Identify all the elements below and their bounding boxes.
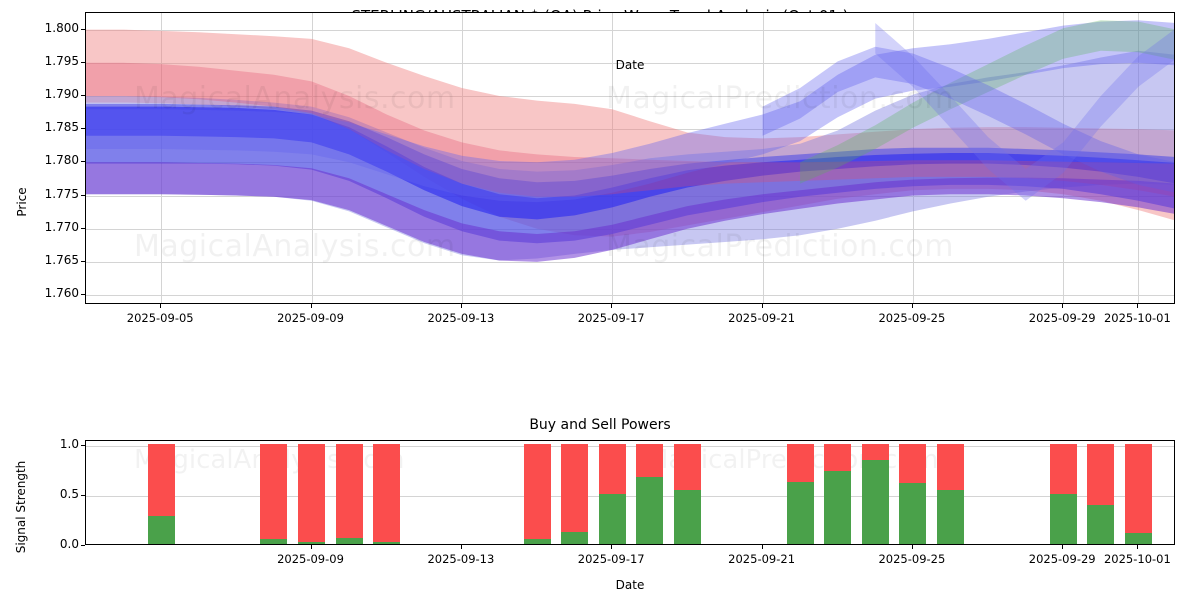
price-xtick-mark	[461, 304, 462, 308]
price-ytick-label: 1.800	[23, 21, 79, 35]
buy-power-segment	[561, 532, 588, 544]
price-xtick-label: 2025-09-21	[717, 311, 807, 325]
powers-ytick-mark	[81, 445, 85, 446]
price-xtick-label: 2025-10-01	[1092, 311, 1182, 325]
buy-power-segment	[599, 494, 626, 544]
price-xtick-mark	[1137, 304, 1138, 308]
price-ytick-mark	[81, 195, 85, 196]
buy-power-segment	[148, 516, 175, 544]
sell-power-segment	[336, 444, 363, 544]
price-xtick-label: 2025-09-17	[566, 311, 656, 325]
powers-y-axis-label: Signal Strength	[14, 452, 28, 562]
price-ytick-mark	[81, 228, 85, 229]
price-wave-bands	[86, 13, 1175, 304]
price-xtick-label: 2025-09-13	[416, 311, 506, 325]
powers-xtick-mark	[461, 545, 462, 549]
buy-power-segment	[862, 460, 889, 544]
powers-bar	[862, 444, 889, 544]
powers-chart-panel: Buy and Sell Powers Signal Strength Magi…	[0, 415, 1200, 600]
powers-bar	[298, 444, 325, 544]
sell-power-segment	[260, 444, 287, 544]
price-ytick-label: 1.775	[23, 187, 79, 201]
powers-bar	[1125, 444, 1152, 544]
buy-power-segment	[674, 490, 701, 544]
buy-power-segment	[373, 542, 400, 544]
powers-x-axis-label: Date	[85, 578, 1175, 592]
powers-xtick-mark	[311, 545, 312, 549]
price-ytick-label: 1.765	[23, 253, 79, 267]
price-ytick-mark	[81, 294, 85, 295]
buy-power-segment	[787, 482, 814, 544]
buy-power-segment	[1050, 494, 1077, 544]
price-ytick-mark	[81, 128, 85, 129]
price-xtick-mark	[311, 304, 312, 308]
powers-bar	[561, 444, 588, 544]
powers-xtick-label: 2025-09-25	[867, 552, 957, 566]
price-ytick-label: 1.780	[23, 153, 79, 167]
powers-bar	[1050, 444, 1077, 544]
powers-plot-area: MagicalAnalysis.com MagicalPrediction.co…	[85, 440, 1175, 545]
price-xtick-mark	[160, 304, 161, 308]
buy-power-segment	[899, 483, 926, 544]
price-ytick-label: 1.790	[23, 87, 79, 101]
price-xtick-mark	[611, 304, 612, 308]
chart-page: STERLING/AUSTRALIAN $ (QA) Price Wave Tr…	[0, 0, 1200, 600]
powers-bar	[787, 444, 814, 544]
price-plot-area: MagicalAnalysis.com MagicalPrediction.co…	[85, 12, 1175, 304]
buy-power-segment	[937, 490, 964, 544]
powers-bar	[674, 444, 701, 544]
buy-power-segment	[524, 539, 551, 544]
price-x-axis-label: Date	[85, 58, 1175, 72]
powers-xtick-mark	[762, 545, 763, 549]
price-xtick-label: 2025-09-05	[115, 311, 205, 325]
powers-xtick-label: 2025-09-17	[566, 552, 656, 566]
sell-power-segment	[298, 444, 325, 544]
price-ytick-mark	[81, 62, 85, 63]
price-ytick-mark	[81, 161, 85, 162]
powers-bar	[824, 444, 851, 544]
price-ytick-label: 1.770	[23, 220, 79, 234]
powers-xtick-mark	[912, 545, 913, 549]
powers-bar	[524, 444, 551, 544]
buy-power-segment	[824, 471, 851, 544]
price-ytick-label: 1.760	[23, 286, 79, 300]
powers-title: Buy and Sell Powers	[0, 415, 1200, 435]
buy-power-segment	[1087, 505, 1114, 544]
powers-bar	[1087, 444, 1114, 544]
powers-bar	[148, 444, 175, 544]
price-ytick-mark	[81, 95, 85, 96]
powers-gridline	[86, 446, 1174, 447]
price-ytick-label: 1.785	[23, 120, 79, 134]
sell-power-segment	[373, 444, 400, 544]
price-ytick-mark	[81, 29, 85, 30]
powers-xtick-mark	[1137, 545, 1138, 549]
powers-xtick-label: 2025-09-09	[266, 552, 356, 566]
price-chart-panel: Price MagicalAnalysis.com MagicalPredict…	[0, 0, 1200, 345]
price-ytick-label: 1.795	[23, 54, 79, 68]
buy-power-segment	[336, 538, 363, 544]
powers-bar	[260, 444, 287, 544]
powers-ytick-label: 1.0	[37, 437, 79, 451]
powers-ytick-label: 0.5	[37, 487, 79, 501]
price-xtick-mark	[1062, 304, 1063, 308]
powers-bar	[599, 444, 626, 544]
sell-power-segment	[524, 444, 551, 544]
powers-ytick-mark	[81, 495, 85, 496]
powers-ytick-mark	[81, 545, 85, 546]
buy-power-segment	[636, 477, 663, 544]
price-ytick-mark	[81, 261, 85, 262]
powers-xtick-mark	[611, 545, 612, 549]
sell-power-segment	[1125, 444, 1152, 544]
buy-power-segment	[260, 539, 287, 544]
powers-bar	[937, 444, 964, 544]
price-xtick-mark	[912, 304, 913, 308]
buy-power-segment	[1125, 533, 1152, 544]
price-xtick-label: 2025-09-09	[266, 311, 356, 325]
powers-bar	[899, 444, 926, 544]
powers-xtick-label: 2025-09-21	[717, 552, 807, 566]
powers-gridline	[86, 496, 1174, 497]
price-xtick-mark	[762, 304, 763, 308]
powers-ytick-label: 0.0	[37, 537, 79, 551]
sell-power-segment	[561, 444, 588, 544]
powers-xtick-mark	[1062, 545, 1063, 549]
powers-xtick-label: 2025-10-01	[1092, 552, 1182, 566]
price-xtick-label: 2025-09-25	[867, 311, 957, 325]
powers-xtick-label: 2025-09-13	[416, 552, 506, 566]
powers-bar	[336, 444, 363, 544]
powers-bar	[373, 444, 400, 544]
buy-power-segment	[298, 542, 325, 544]
powers-bar	[636, 444, 663, 544]
